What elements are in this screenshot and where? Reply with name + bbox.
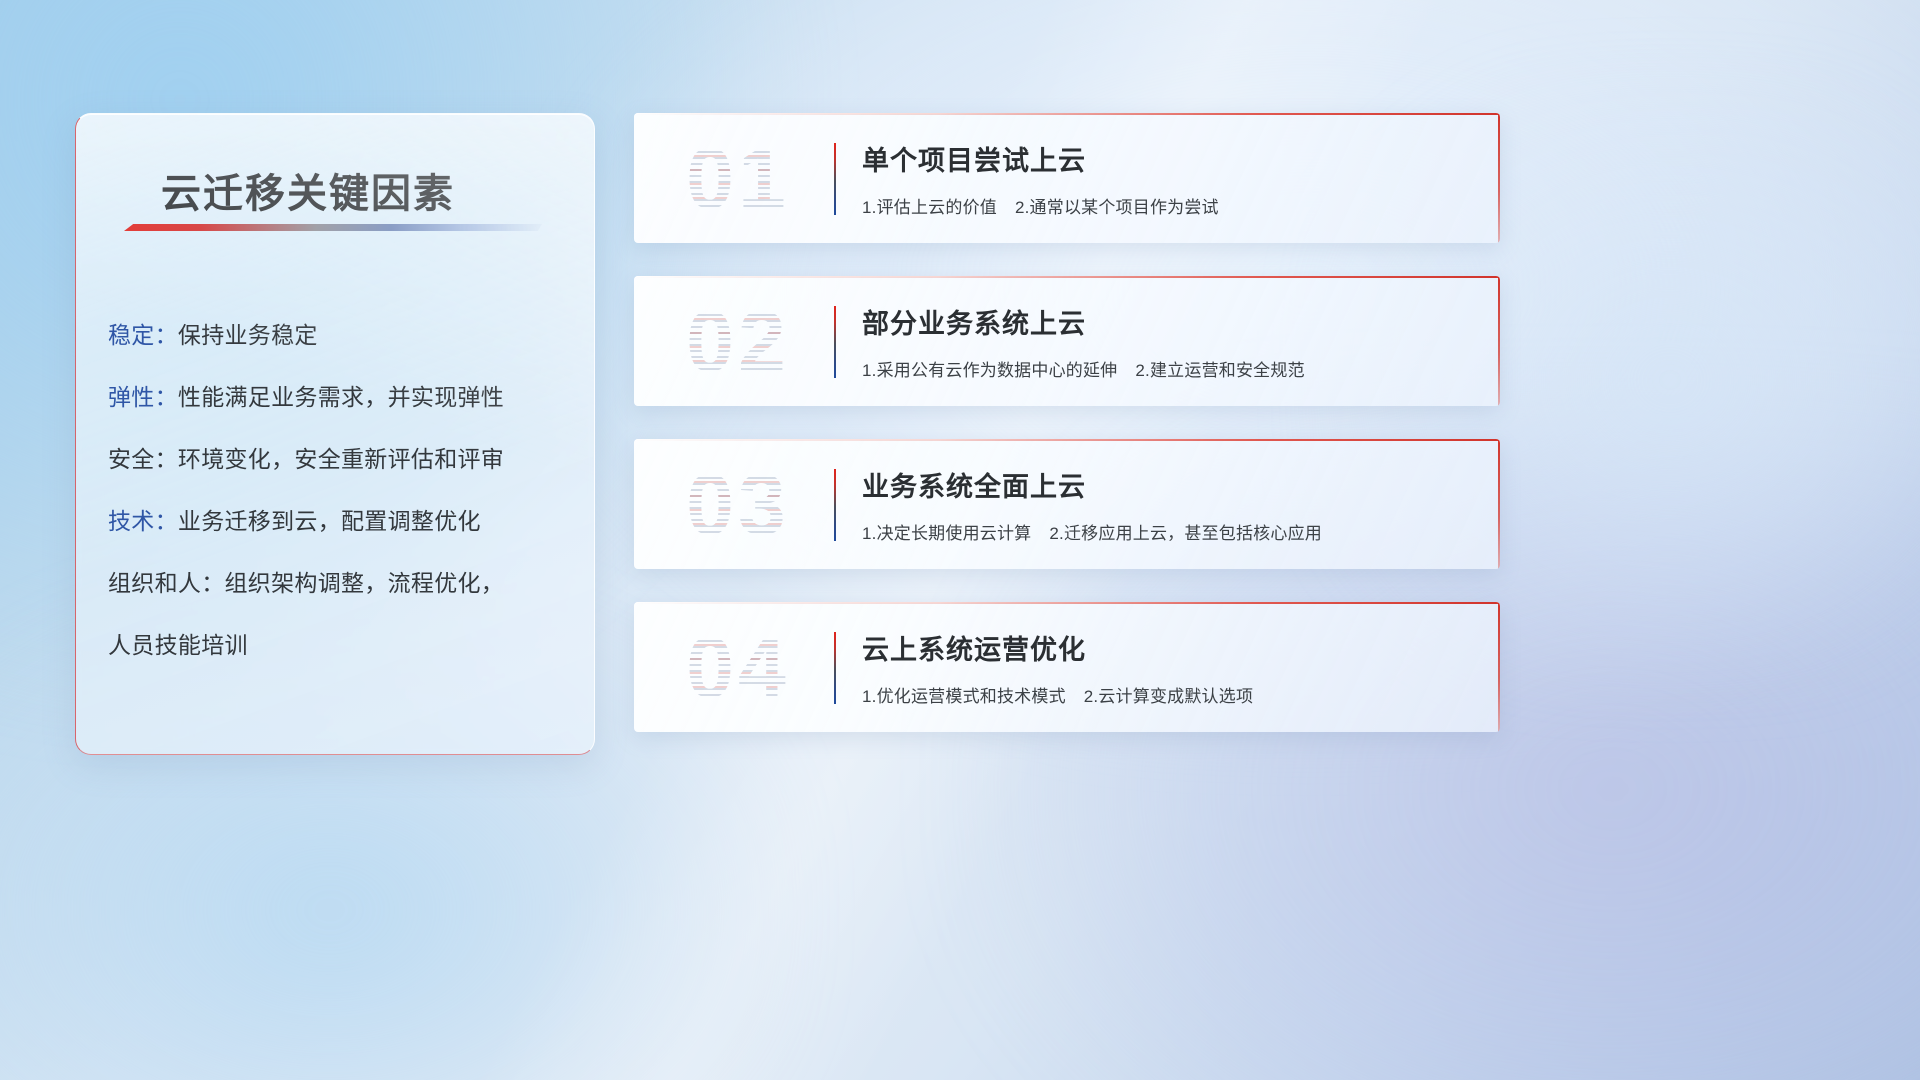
- card-divider-bar: [834, 306, 836, 378]
- stage-card-01[interactable]: 01 01 单个项目尝试上云 1.评估上云的价值2.通常以某个项目作为尝试: [634, 113, 1500, 243]
- list-item-text: 性能满足业务需求，并实现弹性: [178, 384, 504, 410]
- card-top-accent-line: [634, 439, 1500, 441]
- list-item: 技术：业务迁移到云，配置调整优化: [108, 490, 578, 552]
- card-description: 1.优化运营模式和技术模式2.云计算变成默认选项: [862, 682, 1253, 707]
- card-description-point-1: 1.评估上云的价值: [862, 198, 997, 217]
- list-item: 安全：环境变化，安全重新评估和评审: [108, 428, 578, 490]
- card-description-point-2: 2.迁移应用上云，甚至包括核心应用: [1049, 524, 1322, 543]
- card-top-accent-line: [634, 602, 1500, 604]
- list-item-label: 安全：: [108, 446, 178, 472]
- page-title: 云迁移关键因素: [161, 161, 455, 219]
- card-right-accent-line: [1498, 602, 1500, 732]
- list-item-label: 组织和人：: [108, 570, 225, 596]
- card-number-watermark-tint: 04: [658, 616, 818, 720]
- card-right-accent-line: [1498, 113, 1500, 243]
- card-title: 部分业务系统上云: [862, 302, 1086, 341]
- card-description-point-2: 2.通常以某个项目作为尝试: [1015, 198, 1219, 217]
- list-item: 稳定：保持业务稳定: [108, 304, 578, 366]
- list-item-label: 技术：: [108, 508, 178, 534]
- list-item: 弹性：性能满足业务需求，并实现弹性: [108, 366, 578, 428]
- list-item-label: 稳定：: [108, 322, 178, 348]
- stage-card-02[interactable]: 02 02 部分业务系统上云 1.采用公有云作为数据中心的延伸2.建立运营和安全…: [634, 276, 1500, 406]
- card-description: 1.评估上云的价值2.通常以某个项目作为尝试: [862, 193, 1219, 218]
- list-item-text: 业务迁移到云，配置调整优化: [178, 508, 481, 534]
- key-factors-list: 稳定：保持业务稳定 弹性：性能满足业务需求，并实现弹性 安全：环境变化，安全重新…: [108, 304, 578, 676]
- title-underline-gradient: [124, 224, 542, 231]
- card-number-watermark-tint: 03: [658, 453, 818, 557]
- card-top-accent-line: [634, 276, 1500, 278]
- card-title: 单个项目尝试上云: [862, 139, 1086, 178]
- list-item-text: 组织架构调整，流程优化，: [225, 570, 505, 596]
- card-number-watermark-tint: 01: [658, 127, 818, 231]
- card-description-point-2: 2.建立运营和安全规范: [1135, 361, 1304, 380]
- card-right-accent-line: [1498, 276, 1500, 406]
- key-factors-panel: 云迁移关键因素 稳定：保持业务稳定 弹性：性能满足业务需求，并实现弹性 安全：环…: [75, 113, 595, 755]
- card-right-accent-line: [1498, 439, 1500, 569]
- card-description: 1.采用公有云作为数据中心的延伸2.建立运营和安全规范: [862, 356, 1305, 381]
- list-item-text: 保持业务稳定: [178, 322, 318, 348]
- card-description-point-1: 1.采用公有云作为数据中心的延伸: [862, 361, 1117, 380]
- card-top-accent-line: [634, 113, 1500, 115]
- stage-card-04[interactable]: 04 04 云上系统运营优化 1.优化运营模式和技术模式2.云计算变成默认选项: [634, 602, 1500, 732]
- list-item-text: 人员技能培训: [108, 632, 248, 658]
- card-description-point-2: 2.云计算变成默认选项: [1084, 687, 1253, 706]
- card-divider-bar: [834, 469, 836, 541]
- list-item: 组织和人：组织架构调整，流程优化，: [108, 552, 578, 614]
- card-description: 1.决定长期使用云计算2.迁移应用上云，甚至包括核心应用: [862, 519, 1322, 544]
- stage-card-03[interactable]: 03 03 业务系统全面上云 1.决定长期使用云计算2.迁移应用上云，甚至包括核…: [634, 439, 1500, 569]
- card-description-point-1: 1.决定长期使用云计算: [862, 524, 1031, 543]
- card-description-point-1: 1.优化运营模式和技术模式: [862, 687, 1066, 706]
- stage-cards-list: 01 01 单个项目尝试上云 1.评估上云的价值2.通常以某个项目作为尝试 02…: [634, 113, 1500, 765]
- slide-canvas: 云迁移关键因素 稳定：保持业务稳定 弹性：性能满足业务需求，并实现弹性 安全：环…: [0, 0, 1920, 1080]
- card-number-watermark-tint: 02: [658, 290, 818, 394]
- list-item-continuation: 人员技能培训: [108, 614, 578, 676]
- card-divider-bar: [834, 632, 836, 704]
- list-item-label: 弹性：: [108, 384, 178, 410]
- card-title: 业务系统全面上云: [862, 465, 1086, 504]
- card-title: 云上系统运营优化: [862, 628, 1086, 667]
- card-divider-bar: [834, 143, 836, 215]
- list-item-text: 环境变化，安全重新评估和评审: [178, 446, 504, 472]
